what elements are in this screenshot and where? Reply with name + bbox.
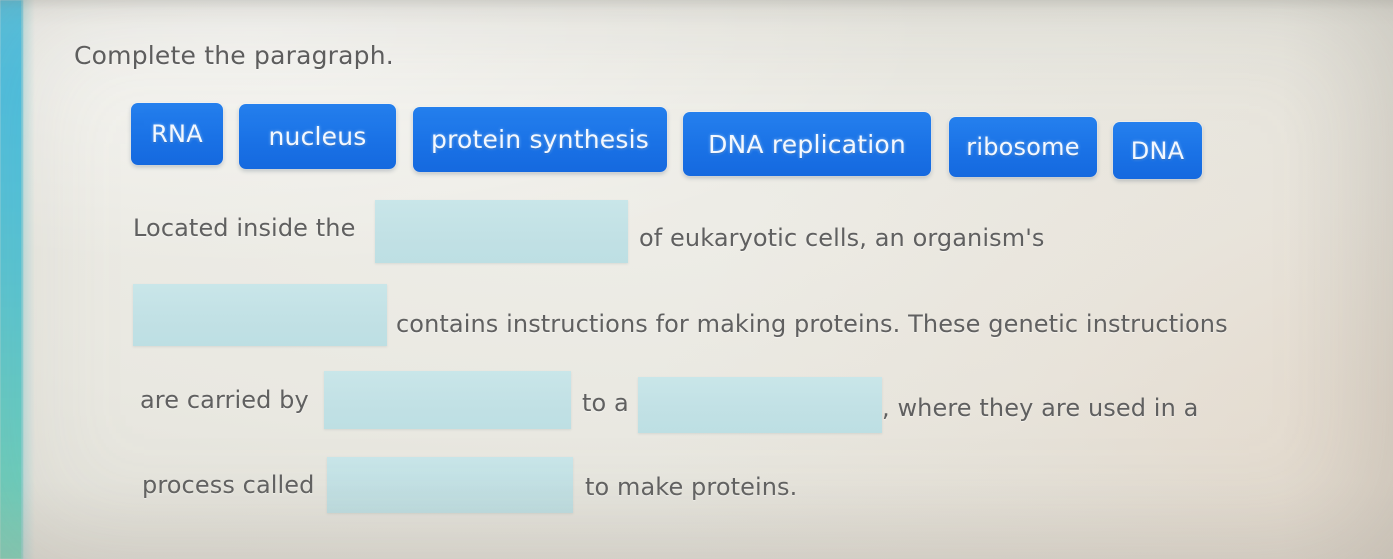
drop-zone-1[interactable] xyxy=(375,200,628,263)
paragraph-fragment-3: contains instructions for making protein… xyxy=(396,310,1228,338)
paragraph-fragment-5: to a xyxy=(582,389,629,417)
question-content: Complete the paragraph. RNA nucleus prot… xyxy=(0,0,1393,559)
word-bank-chip-protein-synthesis[interactable]: protein synthesis xyxy=(413,107,667,172)
word-bank-chip-dna-replication[interactable]: DNA replication xyxy=(683,112,931,176)
question-screen: Complete the paragraph. RNA nucleus prot… xyxy=(0,0,1393,559)
drop-zone-3[interactable] xyxy=(324,371,571,429)
paragraph-fragment-2: of eukaryotic cells, an organism's xyxy=(639,224,1045,252)
word-bank-chip-nucleus[interactable]: nucleus xyxy=(239,104,396,169)
word-bank-chip-ribosome[interactable]: ribosome xyxy=(949,117,1097,177)
paragraph-fragment-6: , where they are used in a xyxy=(882,394,1198,422)
word-bank-chip-dna[interactable]: DNA xyxy=(1113,122,1202,179)
drop-zone-2[interactable] xyxy=(133,284,387,346)
paragraph-fragment-8: to make proteins. xyxy=(585,473,797,501)
drop-zone-5[interactable] xyxy=(327,457,573,513)
paragraph-fragment-7: process called xyxy=(142,471,315,499)
word-bank-chip-rna[interactable]: RNA xyxy=(131,103,223,165)
paragraph-fragment-1: Located inside the xyxy=(133,214,355,242)
page-title: Complete the paragraph. xyxy=(74,41,394,70)
drop-zone-4[interactable] xyxy=(638,377,882,433)
paragraph-fragment-4: are carried by xyxy=(140,386,309,414)
